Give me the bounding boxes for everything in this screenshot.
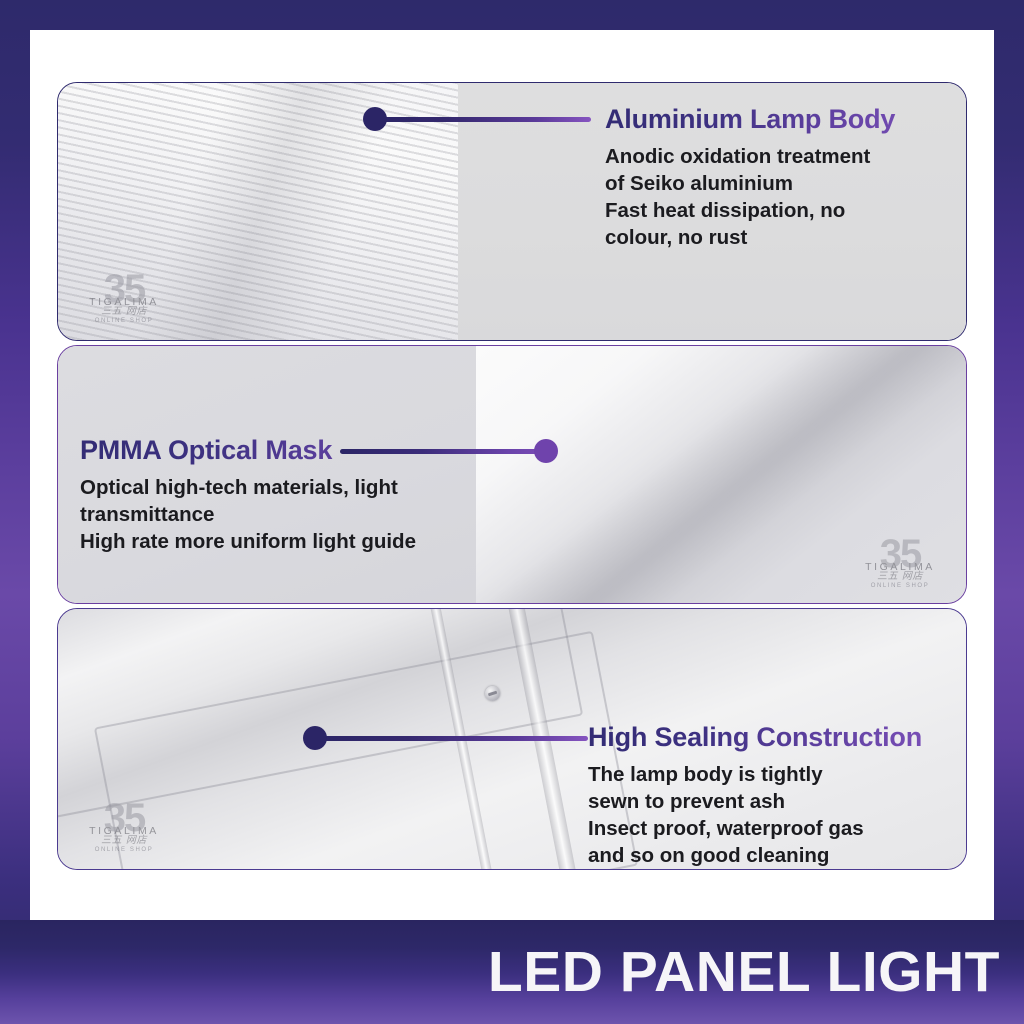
poster-white-page: Aluminium Lamp Body Anodic oxidation tre… bbox=[30, 30, 994, 920]
feature-body: Anodic oxidation treatment of Seiko alum… bbox=[605, 143, 945, 252]
connector-line bbox=[375, 117, 591, 122]
feature-heading: PMMA Optical Mask bbox=[80, 436, 500, 466]
feature-card-pmma-optical-mask: PMMA Optical Mask Optical high-tech mate… bbox=[57, 345, 967, 604]
feature-text-high-sealing-construction: High Sealing Construction The lamp body … bbox=[588, 723, 948, 870]
photo-screw bbox=[485, 686, 500, 701]
connector-aluminium-lamp-body bbox=[363, 107, 591, 131]
feature-heading: High Sealing Construction bbox=[588, 723, 948, 753]
connector-high-sealing-construction bbox=[303, 726, 588, 750]
feature-heading: Aluminium Lamp Body bbox=[605, 105, 945, 135]
feature-body: The lamp body is tightly sewn to prevent… bbox=[588, 761, 948, 870]
product-name-title: LED PANEL LIGHT bbox=[488, 944, 1024, 1001]
connector-line bbox=[315, 736, 588, 741]
connector-dot bbox=[363, 107, 387, 131]
connector-dot bbox=[303, 726, 327, 750]
feature-card-aluminium-lamp-body: Aluminium Lamp Body Anodic oxidation tre… bbox=[57, 82, 967, 341]
feature-body: Optical high-tech materials, light trans… bbox=[80, 474, 500, 556]
feature-text-pmma-optical-mask: PMMA Optical Mask Optical high-tech mate… bbox=[80, 436, 500, 555]
feature-card-high-sealing-construction: High Sealing Construction The lamp body … bbox=[57, 608, 967, 870]
feature-text-aluminium-lamp-body: Aluminium Lamp Body Anodic oxidation tre… bbox=[605, 105, 945, 252]
poster-frame: Aluminium Lamp Body Anodic oxidation tre… bbox=[0, 0, 1024, 1024]
connector-dot bbox=[534, 439, 558, 463]
product-name-banner: LED PANEL LIGHT bbox=[0, 920, 1024, 1024]
